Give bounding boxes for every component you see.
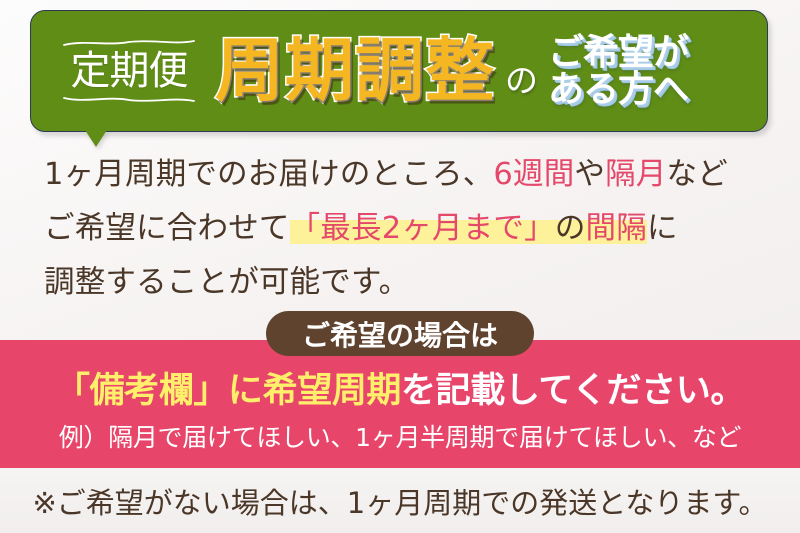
header-box: 定期便 周期調整 の ご希望が ある方へ xyxy=(30,10,768,132)
request-case-pill: ご希望の場合は xyxy=(266,311,534,356)
promo-banner: 定期便 周期調整 の ご希望が ある方へ 1ヶ月周期でのお届けのところ、6週間や… xyxy=(0,0,800,533)
wave-line-bottom-icon xyxy=(63,95,195,103)
body-line-1-part-a: 1ヶ月周期でのお届けのところ、 xyxy=(44,157,493,192)
instruction-band: 「備考欄」に希望周期を記載してください。 例）隔月で届けてほしい、1ヶ月半周期で… xyxy=(0,340,800,468)
body-line-3: 調整することが可能です。 xyxy=(44,256,774,310)
body-line-1: 1ヶ月周期でのお届けのところ、6週間や隔月など xyxy=(44,148,774,202)
request-case-pill-label: ご希望の場合は xyxy=(302,314,498,354)
instruction-main-rest: を記載してください。 xyxy=(401,371,745,411)
header-bubble: 定期便 周期調整 の ご希望が ある方へ xyxy=(30,10,768,132)
body-line-1-part-c: や xyxy=(574,157,605,192)
body-paragraph: 1ヶ月周期でのお届けのところ、6週間や隔月など ご希望に合わせて「最長2ヶ月まで… xyxy=(44,148,774,310)
body-line-2-part-e: に xyxy=(647,211,678,246)
header-target-line-2: ある方へ xyxy=(548,72,688,109)
header-particle: の xyxy=(505,54,538,102)
body-line-1-accent-bimonthly: 隔月 xyxy=(605,157,666,192)
body-line-2-part-a: ご希望に合わせて xyxy=(44,211,290,246)
body-line-1-part-e: など xyxy=(667,157,728,192)
body-line-2: ご希望に合わせて「最長2ヶ月まで」の間隔に xyxy=(44,202,774,256)
instruction-accent-remarks: 「備考欄」に希望周期 xyxy=(55,371,401,411)
speech-bubble-tail-icon xyxy=(85,130,107,147)
wave-line-top-icon xyxy=(63,39,195,47)
body-line-2-part-c: の xyxy=(555,211,586,246)
subscription-badge-label: 定期便 xyxy=(71,48,188,94)
header-target-audience: ご希望が ある方へ xyxy=(548,35,688,108)
header-target-line-1: ご希望が xyxy=(548,35,688,72)
footer-note: ※ご希望がない場合は、1ヶ月周期での発送となります。 xyxy=(0,480,800,522)
header-title: 周期調整 xyxy=(215,37,495,106)
body-line-2-highlight-interval: 間隔 xyxy=(586,211,647,246)
instruction-example-line: 例）隔月で届けてほしい、1ヶ月半周期で届けてほしい、など xyxy=(0,418,800,454)
body-line-1-accent-6weeks: 6週間 xyxy=(493,157,574,192)
subscription-badge: 定期便 xyxy=(53,36,205,107)
instruction-main-line: 「備考欄」に希望周期を記載してください。 xyxy=(0,362,800,413)
body-line-2-highlight-maxterm: 「最長2ヶ月まで」 xyxy=(290,211,555,246)
